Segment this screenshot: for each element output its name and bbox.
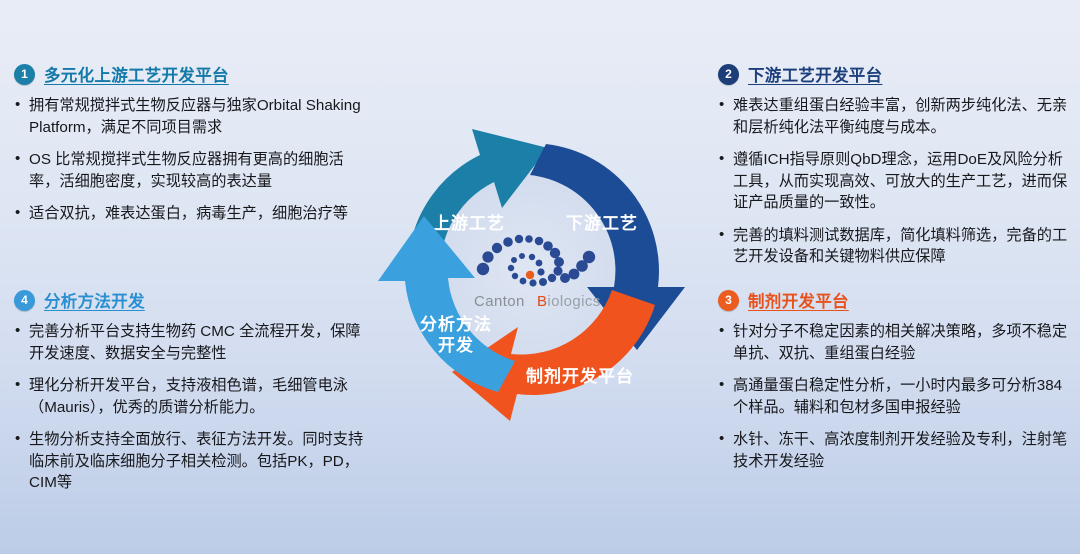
panel-downstream-bullets: 难表达重组蛋白经验丰富，创新两步纯化法、无亲和层析纯化法平衡纯度与成本。 遵循I… bbox=[718, 95, 1076, 268]
badge-number-2: 2 bbox=[718, 64, 739, 85]
cycle-diagram: 上游工艺 下游工艺 制剂开发平台 分析方法 开发 bbox=[352, 82, 712, 452]
cycle-label-analytical: 分析方法 bbox=[420, 314, 492, 334]
panel-upstream-header: 1 多元化上游工艺开发平台 bbox=[14, 62, 366, 86]
panel-formulation: 3 制剂开发平台 针对分子不稳定因素的相关解决策略，多项不稳定单抗、双抗、重组蛋… bbox=[718, 288, 1076, 483]
logo-accent-dot bbox=[526, 271, 534, 279]
list-item: 难表达重组蛋白经验丰富，创新两步纯化法、无亲和层析纯化法平衡纯度与成本。 bbox=[718, 95, 1076, 138]
panel-upstream-bullets: 拥有常规搅拌式生物反应器与独家Orbital Shaking Platform，… bbox=[14, 95, 366, 225]
badge-number-3: 3 bbox=[718, 290, 739, 311]
cycle-label-formulation: 制剂开发平台 bbox=[526, 366, 634, 386]
panel-formulation-header: 3 制剂开发平台 bbox=[718, 288, 1076, 312]
list-item: 适合双抗，难表达蛋白，病毒生产，细胞治疗等 bbox=[14, 203, 366, 225]
panel-downstream: 2 下游工艺开发平台 难表达重组蛋白经验丰富，创新两步纯化法、无亲和层析纯化法平… bbox=[718, 62, 1076, 279]
panel-upstream-title: 多元化上游工艺开发平台 bbox=[44, 62, 229, 86]
list-item: 针对分子不稳定因素的相关解决策略，多项不稳定单抗、双抗、重组蛋白经验 bbox=[718, 321, 1076, 364]
list-item: 理化分析开发平台，支持液相色谱，毛细管电泳（Mauris），优秀的质谱分析能力。 bbox=[14, 375, 366, 418]
panel-formulation-title: 制剂开发平台 bbox=[748, 288, 849, 312]
panel-downstream-header: 2 下游工艺开发平台 bbox=[718, 62, 1076, 86]
list-item: OS 比常规搅拌式生物反应器拥有更高的细胞活率，活细胞密度，实现较高的表达量 bbox=[14, 149, 366, 192]
list-item: 生物分析支持全面放行、表征方法开发。同时支持临床前及临床细胞分子相关检测。包括P… bbox=[14, 429, 366, 494]
panel-analytical-header: 4 分析方法开发 bbox=[14, 288, 366, 312]
list-item: 完善的填料测试数据库，简化填料筛选，完备的工艺开发设备和关键物料供应保障 bbox=[718, 225, 1076, 268]
badge-number-1: 1 bbox=[14, 64, 35, 85]
logo-accent-letter: B bbox=[537, 293, 547, 310]
panel-upstream: 1 多元化上游工艺开发平台 拥有常规搅拌式生物反应器与独家Orbital Sha… bbox=[14, 62, 366, 236]
list-item: 完善分析平台支持生物药 CMC 全流程开发，保障开发速度、数据安全与完整性 bbox=[14, 321, 366, 364]
panel-downstream-title: 下游工艺开发平台 bbox=[748, 62, 882, 86]
cycle-label-analytical-line2: 开发 bbox=[438, 335, 474, 355]
panel-analytical-bullets: 完善分析平台支持生物药 CMC 全流程开发，保障开发速度、数据安全与完整性 理化… bbox=[14, 321, 366, 494]
panel-analytical-title: 分析方法开发 bbox=[44, 288, 145, 312]
slide-canvas: 1 多元化上游工艺开发平台 拥有常规搅拌式生物反应器与独家Orbital Sha… bbox=[0, 0, 1080, 554]
list-item: 水针、冻干、高浓度制剂开发经验及专利，注射笔技术开发经验 bbox=[718, 429, 1076, 472]
panel-formulation-bullets: 针对分子不稳定因素的相关解决策略，多项不稳定单抗、双抗、重组蛋白经验 高通量蛋白… bbox=[718, 321, 1076, 472]
list-item: 拥有常规搅拌式生物反应器与独家Orbital Shaking Platform，… bbox=[14, 95, 366, 138]
logo-text-canton: Canton bbox=[474, 293, 525, 310]
cycle-label-upstream: 上游工艺 bbox=[433, 213, 505, 233]
list-item: 遵循ICH指导原则QbD理念，运用DoE及风险分析工具，从而实现高效、可放大的生… bbox=[718, 149, 1076, 214]
panel-analytical: 4 分析方法开发 完善分析平台支持生物药 CMC 全流程开发，保障开发速度、数据… bbox=[14, 288, 366, 505]
cycle-label-downstream: 下游工艺 bbox=[566, 213, 638, 233]
badge-number-4: 4 bbox=[14, 290, 35, 311]
list-item: 高通量蛋白稳定性分析，一小时内最多可分析384个样品。辅料和包材多国申报经验 bbox=[718, 375, 1076, 418]
